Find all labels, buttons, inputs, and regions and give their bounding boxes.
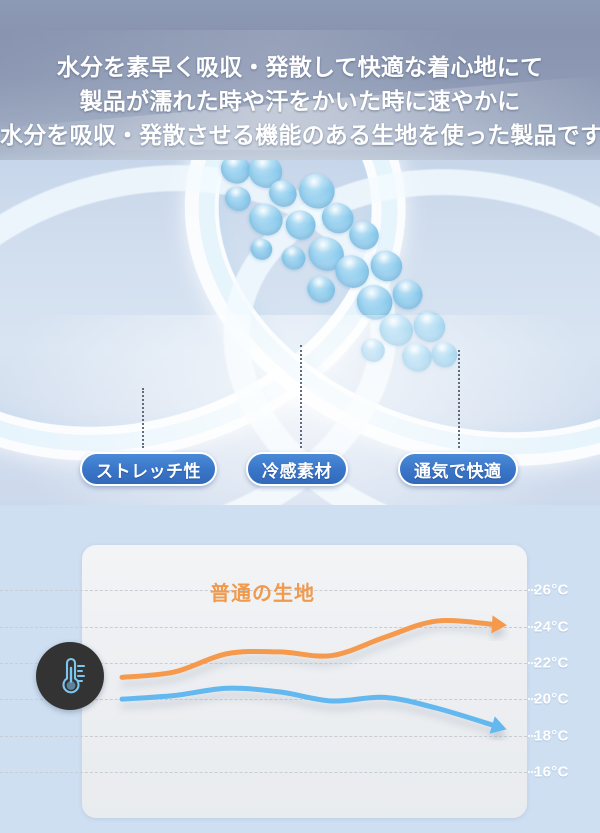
series-line-cooling-fabric xyxy=(122,688,497,726)
series-arrow-normal-fabric xyxy=(491,615,507,633)
leader-line-1 xyxy=(142,388,144,448)
headline-line-1: 水分を素早く吸収・発散して快適な着心地にて xyxy=(0,50,600,84)
water-droplet xyxy=(303,272,339,307)
y-axis-label-22: 22°C xyxy=(534,654,569,671)
thermometer-badge xyxy=(36,642,104,710)
chart-curves xyxy=(82,545,527,818)
thermometer-icon xyxy=(53,657,87,695)
page-root: 水分を素早く吸収・発散して快適な着心地にて 製品が濡れた時や汗をかいた時に速やか… xyxy=(0,0,600,833)
water-droplet xyxy=(278,243,309,274)
y-axis-label-16: 16°C xyxy=(534,763,569,780)
feature-pill-3[interactable]: 通気で快適 xyxy=(398,452,518,486)
water-droplet xyxy=(221,182,255,215)
feature-pill-1[interactable]: ストレッチ性 xyxy=(80,452,217,486)
water-droplet xyxy=(247,235,276,263)
leader-line-2 xyxy=(300,345,302,448)
y-axis-label-26: 26°C xyxy=(534,582,569,599)
temperature-chart: 26°C24°C22°C20°C18°C16°C 普通の生地 xyxy=(82,545,527,818)
feature-pill-2[interactable]: 冷感素材 xyxy=(246,452,348,486)
leader-line-3 xyxy=(458,350,460,448)
headline-line-2: 製品が濡れた時や汗をかいた時に速やかに xyxy=(0,84,600,118)
y-axis-label-20: 20°C xyxy=(534,691,569,708)
page-title: 水分を素早く吸収・発散して快適な着心地にて 製品が濡れた時や汗をかいた時に速やか… xyxy=(0,50,600,152)
series-line-normal-fabric xyxy=(122,621,497,678)
y-axis-label-18: 18°C xyxy=(534,727,569,744)
y-axis-label-24: 24°C xyxy=(534,618,569,635)
headline-line-3: 水分を吸収・発散させる機能のある生地を使った製品です xyxy=(0,118,600,152)
water-droplet xyxy=(388,275,427,314)
feature-pill-group: ストレッチ性冷感素材通気で快適 xyxy=(0,452,600,494)
